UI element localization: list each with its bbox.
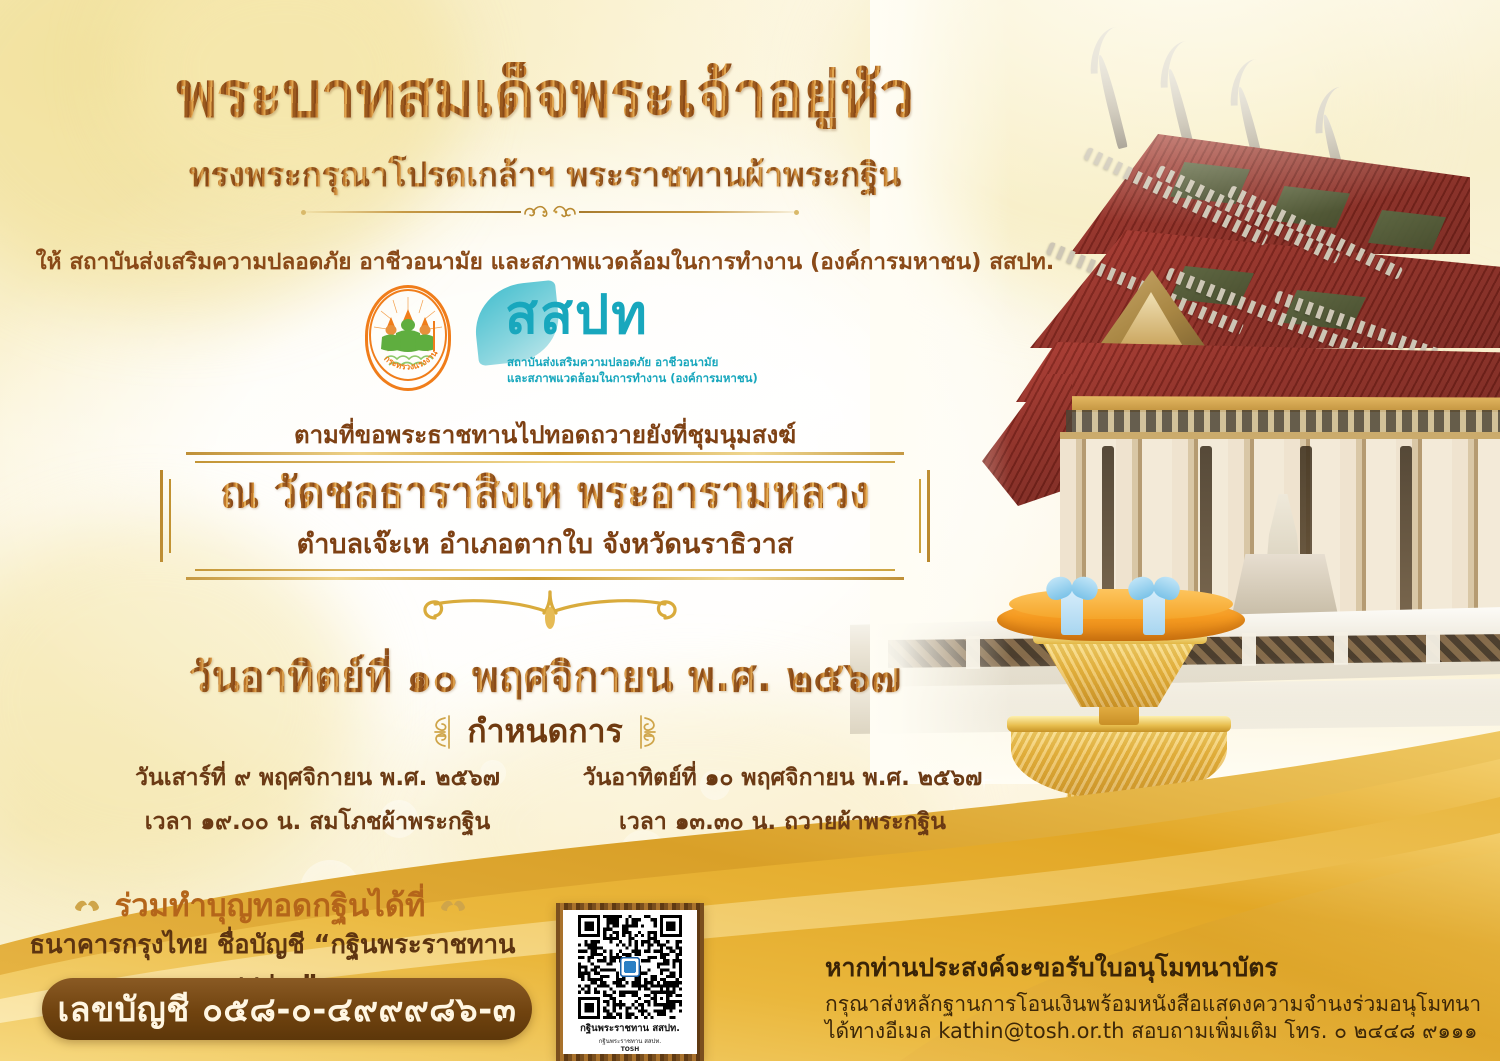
blue-ribbon-bow bbox=[1128, 575, 1180, 601]
page-subtitle: ทรงพระกรุณาโปรดเกล้าฯ พระราชทานผ้าพระกฐิ… bbox=[0, 148, 1090, 201]
ornamental-divider-top bbox=[270, 200, 830, 224]
scroll-flourish-icon bbox=[521, 200, 579, 224]
bg-blob bbox=[1180, 300, 1500, 620]
fleur-de-lis-icon bbox=[73, 895, 101, 915]
fleur-ornament-icon bbox=[427, 712, 453, 752]
temple-name: ณ วัดชลธาราสิงเห พระอารามหลวง bbox=[160, 470, 930, 516]
schedule-date: วันเสาร์ที่ ๙ พฤศจิกายน พ.ศ. ๒๕๖๗ bbox=[100, 760, 535, 796]
saffron-robes bbox=[997, 599, 1245, 641]
qr-code-card[interactable]: กฐินพระราชทาน สสปท. กฐินพระราชทาน สสปท. … bbox=[556, 903, 704, 1061]
temple-name-frame: ณ วัดชลธาราสิงเห พระอารามหลวง ตำบลเจ๊ะเห… bbox=[160, 452, 930, 580]
tosh-wordmark: สสปท bbox=[505, 288, 649, 342]
acknowledgement-info-block: หากท่านประสงค์จะขอรับใบอนุโมทนาบัตร กรุณ… bbox=[825, 948, 1485, 1045]
schedule-title-row: กำหนดการ bbox=[0, 706, 1090, 757]
info-line-1: กรุณาส่งหลักฐานการโอนเงินพร้อมหนังสือแสด… bbox=[825, 991, 1485, 1018]
info-title: หากท่านประสงค์จะขอรับใบอนุโมทนาบัตร bbox=[825, 948, 1485, 988]
tosh-logo: สสปท สถาบันส่งเสริมความปลอดภัย อาชีวอนาม… bbox=[473, 284, 723, 392]
logo-row: กระทรวงแรงงาน สสปท สถาบันส่งเสริมความปลอ… bbox=[365, 283, 745, 393]
dedication-text: ให้ สถาบันส่งเสริมความปลอดภัย อาชีวอนามั… bbox=[0, 243, 1090, 279]
blue-ribbon-bow bbox=[1046, 575, 1098, 601]
qr-code-image[interactable] bbox=[567, 915, 693, 1019]
schedule-time: เวลา ๑๓.๓๐ น. ถวายผ้าพระกฐิน bbox=[565, 804, 1000, 840]
schedule-time: เวลา ๑๙.๐๐ น. สมโภชผ้าพระกฐิน bbox=[100, 804, 535, 840]
tosh-subtitle-line2: และสภาพแวดล้อมในการทำงาน (องค์การมหาชน) bbox=[507, 370, 758, 388]
schedule-title: กำหนดการ bbox=[467, 706, 623, 757]
fleur-de-lis-icon bbox=[439, 895, 467, 915]
qr-code-inner: กฐินพระราชทาน สสปท. กฐินพระราชทาน สสปท. … bbox=[563, 910, 697, 1054]
page-title: พระบาทสมเด็จพระเจ้าอยู่หัว bbox=[0, 62, 1090, 129]
donate-title: ร่วมทำบุญทอดกฐินได้ที่ bbox=[115, 880, 426, 930]
schedule-grid: วันเสาร์ที่ ๙ พฤศจิกายน พ.ศ. ๒๕๖๗ วันอาท… bbox=[100, 760, 1000, 840]
donate-title-row: ร่วมทำบุญทอดกฐินได้ที่ bbox=[20, 880, 520, 930]
ornamental-divider-flourish bbox=[405, 588, 695, 632]
schedule-date: วันอาทิตย์ที่ ๑๐ พฤศจิกายน พ.ศ. ๒๕๖๗ bbox=[565, 760, 1000, 796]
temple-location: ตำบลเจ๊ะเห อำเภอตากใบ จังหวัดนราธิวาส bbox=[160, 522, 930, 565]
fleur-ornament-icon bbox=[637, 712, 663, 752]
ministry-of-labour-emblem-icon: กระทรวงแรงงาน bbox=[365, 285, 451, 391]
main-event-date: วันอาทิตย์ที่ ๑๐ พฤศจิกายน พ.ศ. ๒๕๖๗ bbox=[0, 645, 1090, 710]
kathin-poster: พระบาทสมเด็จพระเจ้าอยู่หัว ทรงพระกรุณาโป… bbox=[0, 0, 1500, 1061]
account-number-pill: เลขบัญชี ๐๕๘-๐-๔๙๙๙๘๖-๓ bbox=[42, 978, 532, 1040]
qr-caption-main: กฐินพระราชทาน สสปท. bbox=[567, 1021, 693, 1036]
account-number: เลขบัญชี ๐๕๘-๐-๔๙๙๙๘๖-๓ bbox=[58, 982, 517, 1036]
info-line-2: ได้ทางอีเมล kathin@tosh.or.th สอบถามเพิ่… bbox=[825, 1018, 1485, 1045]
qr-caption-org: TOSH bbox=[567, 1046, 693, 1053]
qr-caption-sub: กฐินพระราชทาน สสปท. bbox=[567, 1036, 693, 1046]
saffron-robes bbox=[1009, 589, 1233, 619]
leadin-text: ตามที่ขอพระธาชทานไปทอดถวายยังที่ชุมนุมสง… bbox=[0, 415, 1090, 454]
